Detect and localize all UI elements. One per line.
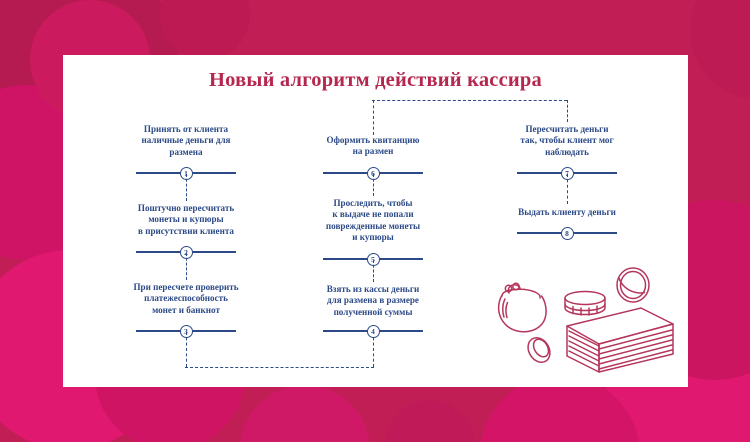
step-1-label: Принять от клиента наличные деньги для р…	[101, 124, 271, 158]
step-8-connector: 8	[517, 225, 617, 241]
step-4-label: Взять из кассы деньги для размена в разм…	[283, 284, 463, 318]
dash-step2-to-step3	[186, 253, 187, 280]
coin-edge-icon	[524, 334, 555, 367]
money-illustration	[495, 260, 680, 375]
content-card: Новый алгоритм действий кассира Принять …	[63, 55, 688, 387]
step-6-label: Оформить квитанцию на размен	[285, 135, 461, 158]
bubble-9	[240, 385, 370, 442]
step-7-label: Пересчитать деньги так, чтобы клиент мог…	[476, 124, 658, 158]
step-2-label: Поштучно пересчитать монеты и купюры в п…	[95, 203, 277, 237]
dash-top-bridge	[372, 100, 567, 101]
bubble-11	[385, 400, 475, 442]
dash-bottom-bridge	[185, 367, 374, 368]
dash-step6-up	[373, 100, 374, 135]
coin-stack-icon	[565, 292, 605, 316]
dash-down-to-step7	[567, 100, 568, 122]
step-8-label: Выдать клиенту деньги	[476, 207, 658, 218]
step-4-connector: 4	[323, 323, 423, 339]
step-4-number: 4	[367, 325, 380, 338]
slide-canvas: Новый алгоритм действий кассира Принять …	[0, 0, 750, 442]
step-8-number: 8	[561, 227, 574, 240]
single-coin-icon	[617, 268, 649, 302]
step-3-label: При пересчете проверить платежеспособнос…	[93, 282, 279, 316]
dash-step5-to-step4	[373, 260, 374, 282]
banknote-stack-icon	[567, 308, 673, 372]
coin-purse-icon	[499, 283, 546, 331]
dash-step6-to-step5	[373, 174, 374, 196]
bubble-10	[690, 0, 750, 100]
step-5-label: Проследить, чтобы к выдаче не попали пов…	[285, 198, 461, 244]
dash-step7-to-step8	[567, 174, 568, 204]
dash-step1-to-step2	[186, 174, 187, 201]
dash-step3-down	[186, 332, 187, 367]
